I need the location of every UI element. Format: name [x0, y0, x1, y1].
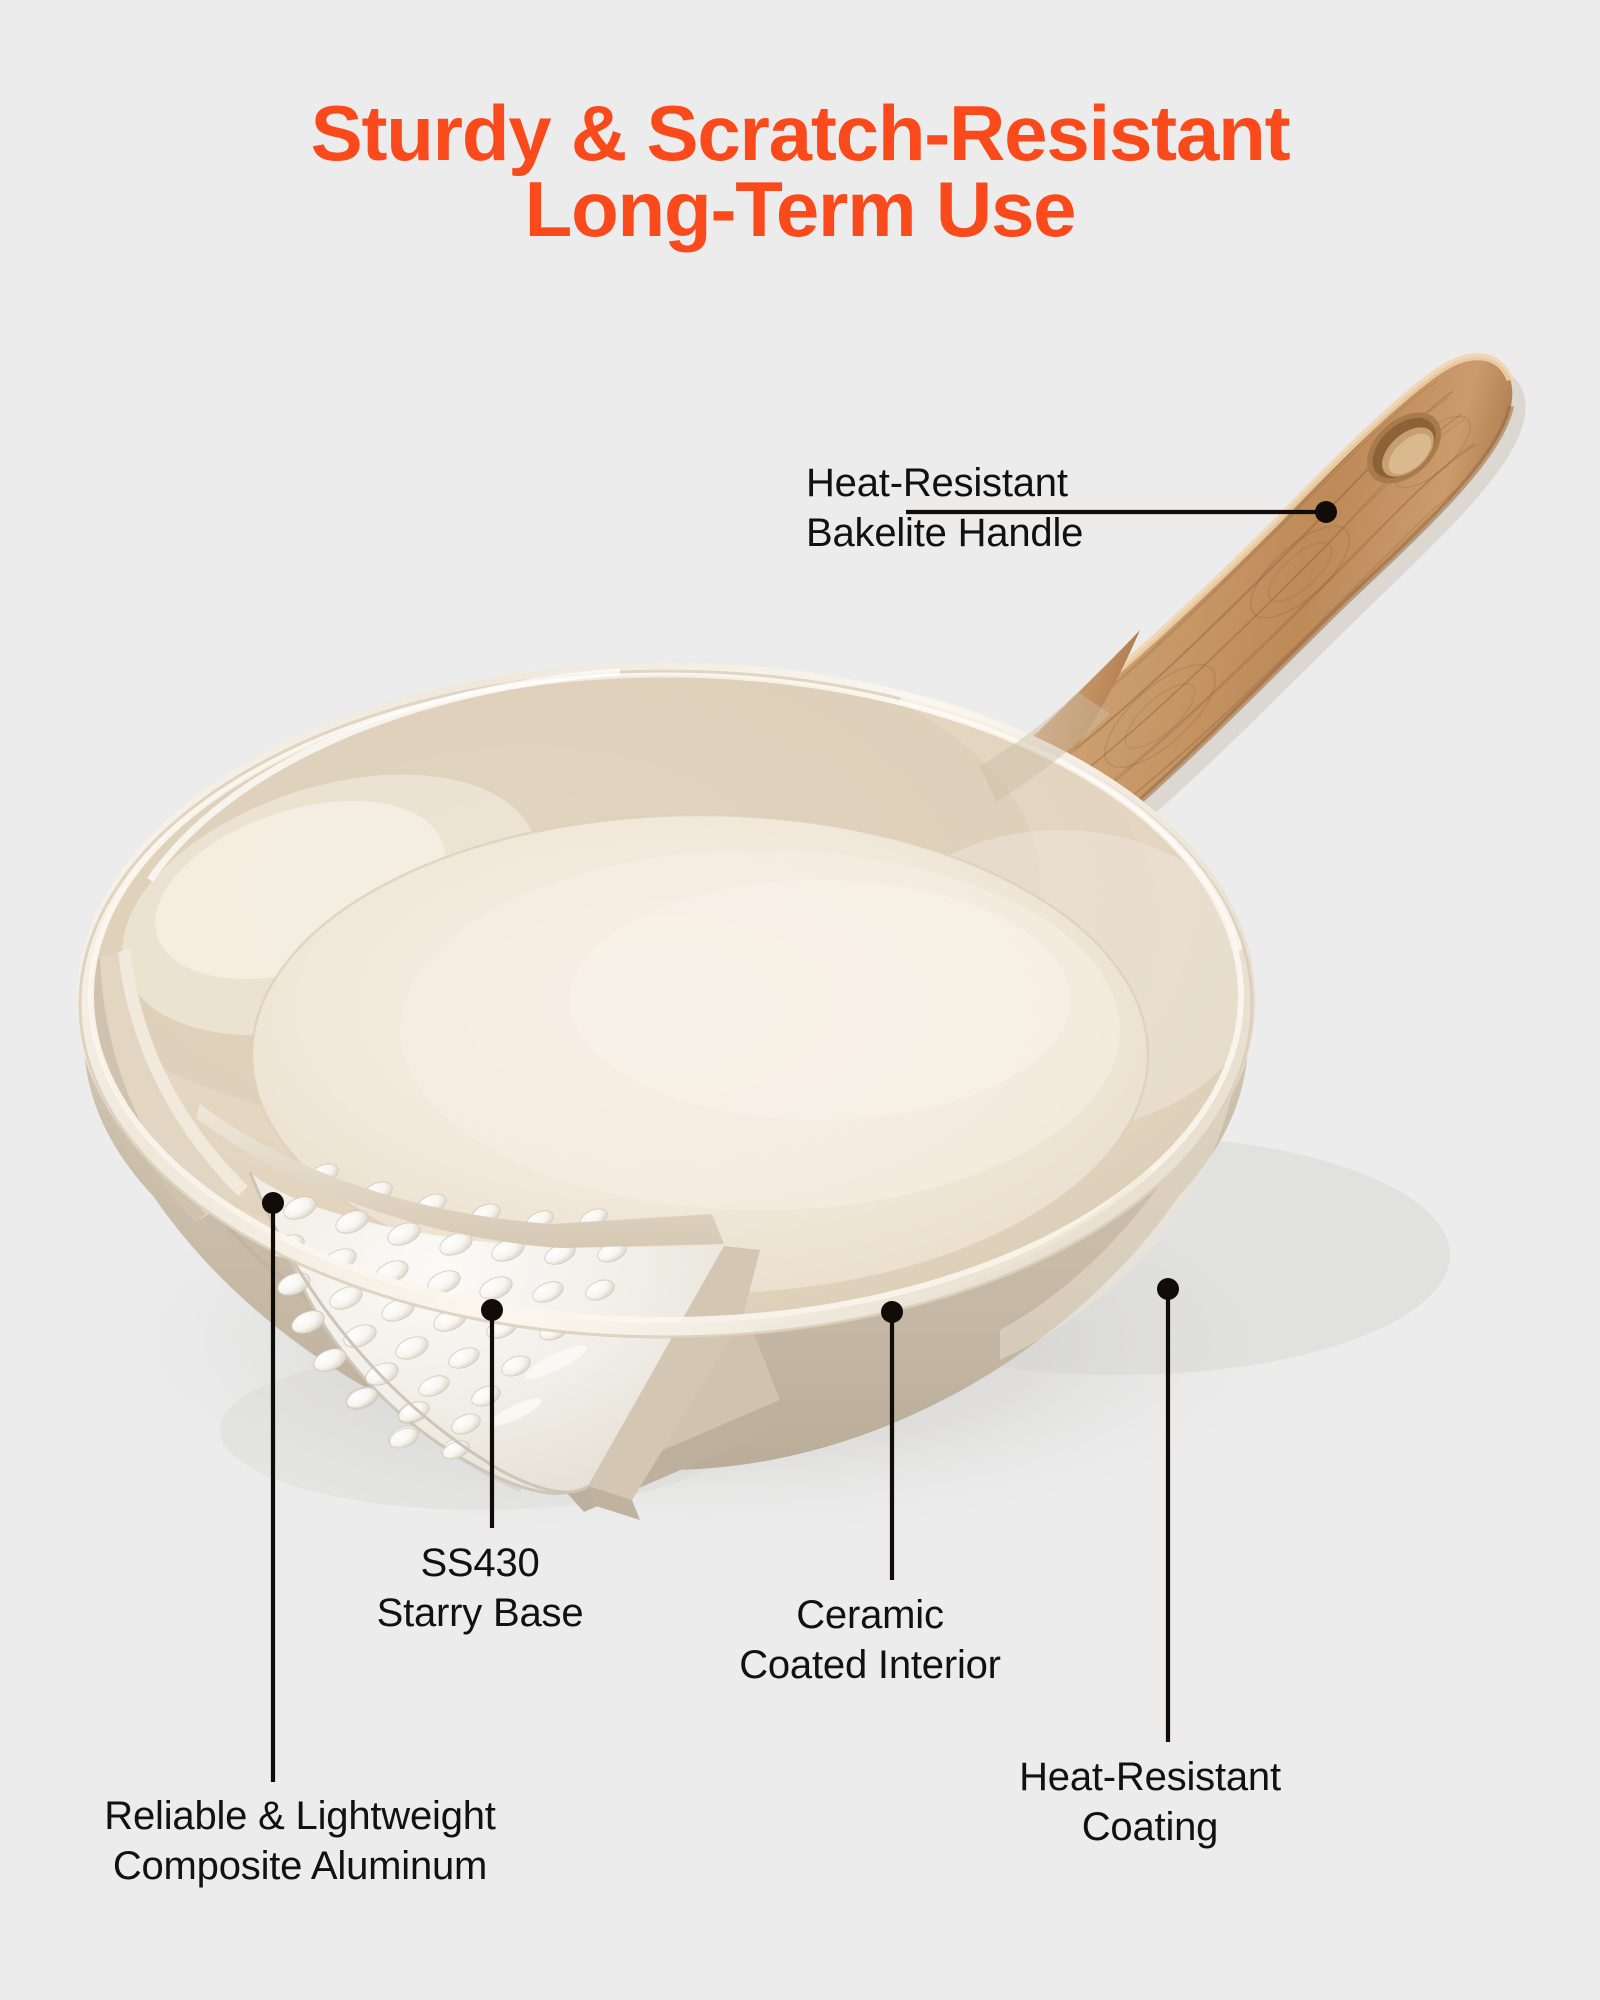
- frying-pan-illustration: [0, 0, 1600, 2000]
- page-title: Sturdy & Scratch-Resistant Long-Term Use: [0, 96, 1600, 247]
- callout-label-composite-aluminum: Reliable & Lightweight Composite Aluminu…: [20, 1792, 580, 1891]
- callout-label-ss430-starry-base: SS430 Starry Base: [300, 1539, 660, 1638]
- infographic-canvas: Sturdy & Scratch-Resistant Long-Term Use…: [0, 0, 1600, 2000]
- callout-label-bakelite-handle: Heat-Resistant Bakelite Handle: [806, 459, 1083, 558]
- callout-label-ceramic-interior: Ceramic Coated Interior: [640, 1591, 1100, 1690]
- callout-label-heat-resistant-coating: Heat-Resistant Coating: [930, 1753, 1370, 1852]
